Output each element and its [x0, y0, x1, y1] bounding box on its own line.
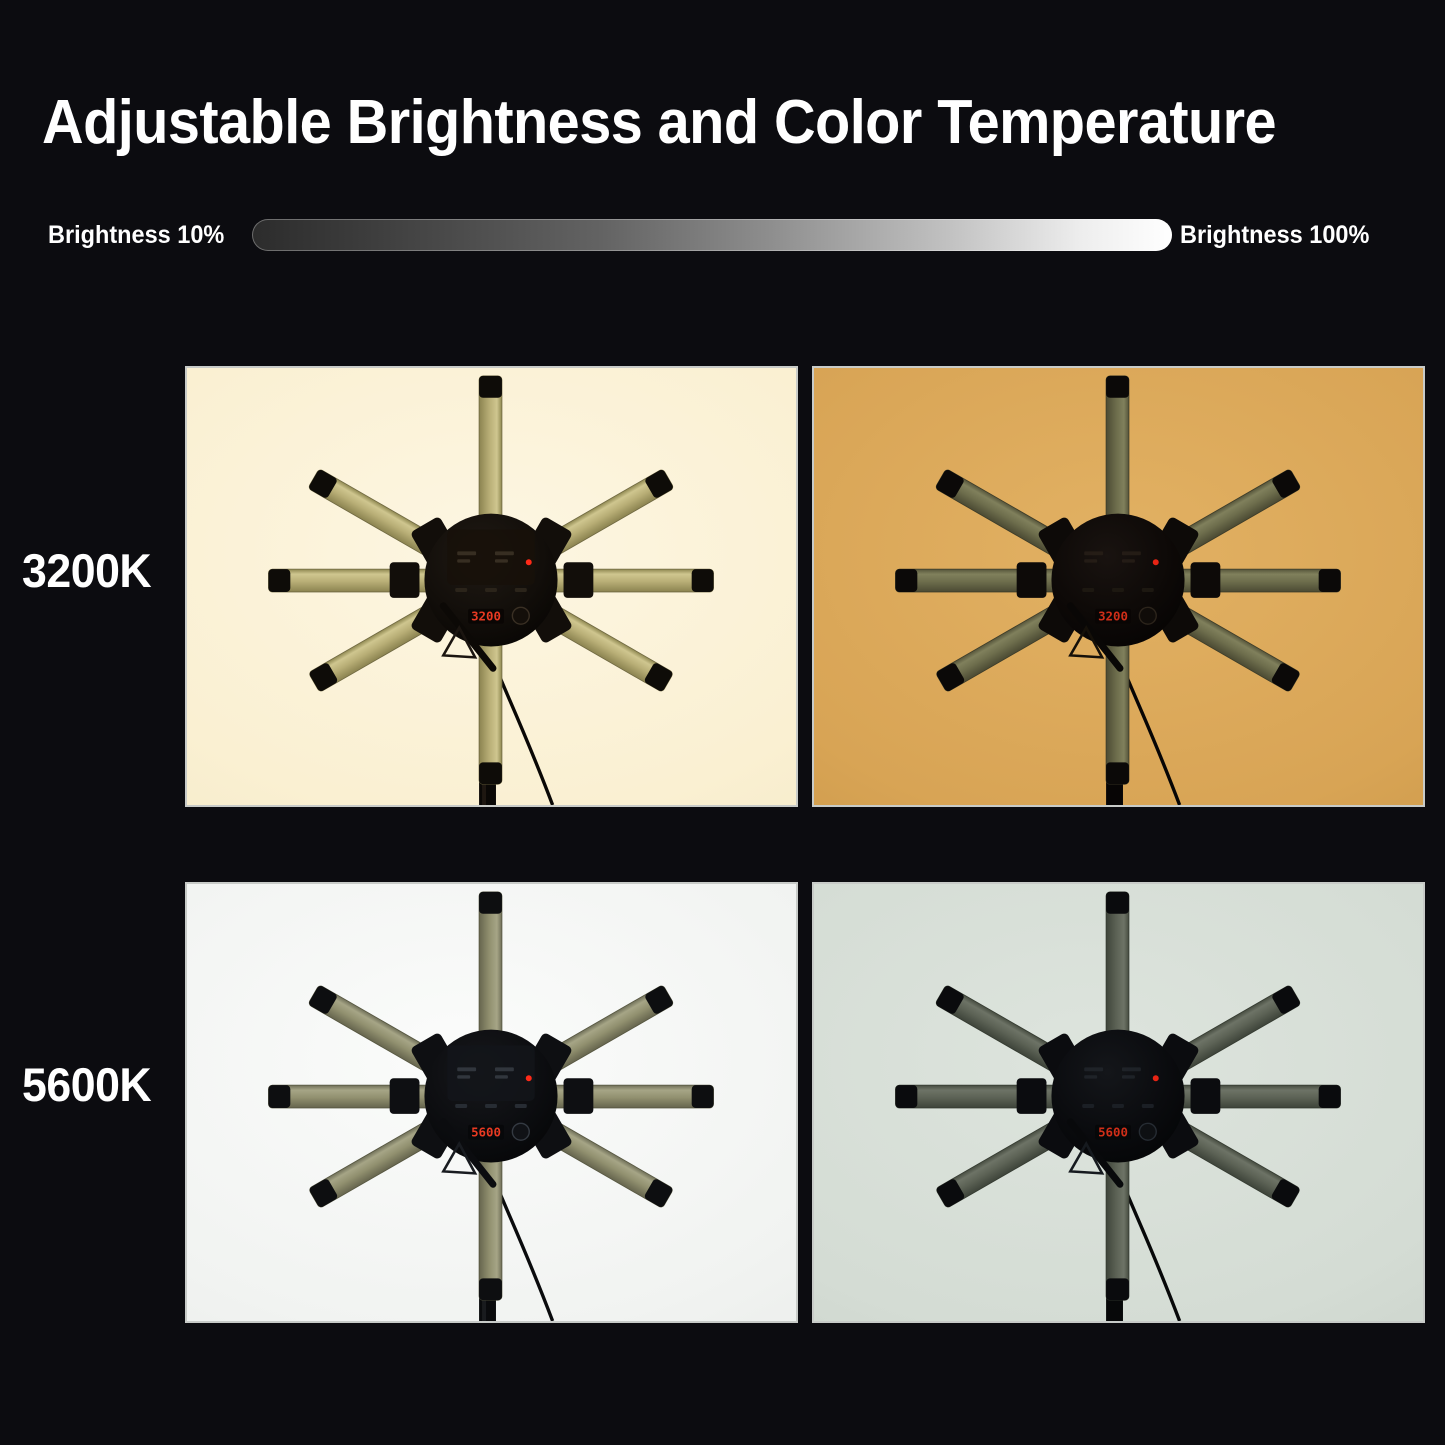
- hub-switches: [455, 1104, 527, 1108]
- brightness-max-label: Brightness 100%: [1180, 215, 1369, 255]
- control-hub: 5600: [1051, 1030, 1184, 1163]
- fixture-illustration: 5600: [187, 884, 796, 1321]
- power-indicator-led: [526, 559, 532, 565]
- brightness-min-label: Brightness 10%: [48, 215, 224, 255]
- fixture-illustration: 5600: [814, 884, 1423, 1321]
- hub-switches: [1082, 588, 1154, 592]
- control-knob[interactable]: [512, 1123, 529, 1140]
- power-cable: [495, 1181, 553, 1321]
- photo-panel-3200k-dim: 3200: [812, 366, 1425, 807]
- color-temp-display: 3200: [471, 609, 501, 624]
- led-light-fixture: 5600: [814, 884, 1423, 1321]
- power-indicator-led: [1153, 1075, 1159, 1081]
- row-label-5600k: 5600K: [22, 1057, 151, 1112]
- color-temp-display: 5600: [471, 1125, 501, 1140]
- photo-panel-5600k-bright: 5600: [185, 882, 798, 1323]
- control-knob[interactable]: [1139, 1123, 1156, 1140]
- page-title: Adjustable Brightness and Color Temperat…: [42, 89, 1316, 157]
- hub-switches: [455, 588, 527, 592]
- hub-switches: [1082, 1104, 1154, 1108]
- control-knob[interactable]: [512, 607, 529, 624]
- brightness-scale: Brightness 10% Brightness 100%: [0, 215, 1445, 257]
- brightness-gradient-bar: [252, 219, 1172, 251]
- color-temp-display: 5600: [1098, 1125, 1128, 1140]
- color-temp-display: 3200: [1098, 609, 1128, 624]
- control-hub: 3200: [424, 514, 557, 647]
- control-knob[interactable]: [1139, 607, 1156, 624]
- power-cable: [1122, 1181, 1180, 1321]
- fixture-illustration: 3200: [814, 368, 1423, 805]
- photo-panel-5600k-dim: 5600: [812, 882, 1425, 1323]
- power-cable: [495, 665, 553, 805]
- control-hub: 3200: [1051, 514, 1184, 647]
- power-indicator-led: [526, 1075, 532, 1081]
- fixture-illustration: 3200: [187, 368, 796, 805]
- power-indicator-led: [1153, 559, 1159, 565]
- power-cable: [1122, 665, 1180, 805]
- photo-panel-3200k-bright: 3200: [185, 366, 798, 807]
- row-label-3200k: 3200K: [22, 543, 151, 598]
- control-hub: 5600: [424, 1030, 557, 1163]
- led-light-fixture: 3200: [814, 368, 1423, 805]
- led-light-fixture: 5600: [187, 884, 796, 1321]
- led-light-fixture: 3200: [187, 368, 796, 805]
